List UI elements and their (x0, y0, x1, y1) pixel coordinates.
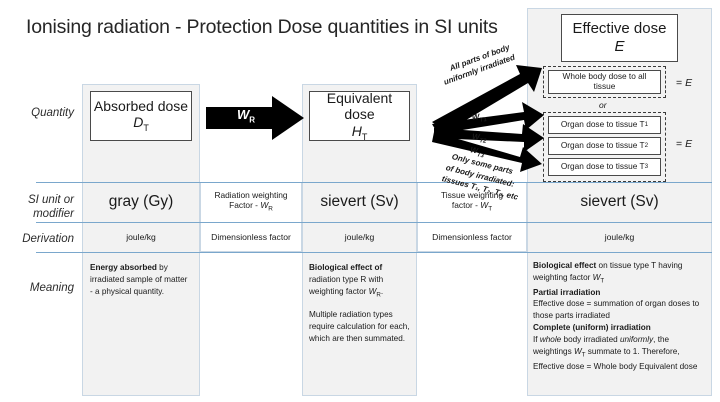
equals-e-upper: = E (676, 77, 692, 89)
derivation-col3: joule/kg (302, 222, 417, 252)
diagram-canvas: Ionising radiation - Protection Dose qua… (0, 0, 720, 402)
absorbed-dose-symbol: DT (133, 114, 149, 133)
absorbed-dose-box: Absorbed dose DT (90, 91, 192, 141)
derivation-col5: joule/kg (527, 222, 712, 252)
si-unit-col3: sievert (Sv) (302, 182, 417, 222)
effective-dose-symbol: E (614, 38, 624, 56)
row-label-derivation: Derivation (0, 232, 74, 246)
meaning-col3: Biological effect of radiation type R wi… (309, 262, 413, 345)
or-separator: or (599, 100, 607, 110)
derivation-col2: Dimensionless factor (200, 222, 302, 252)
effective-dose-name: Effective dose (573, 20, 667, 38)
page-title: Ionising radiation - Protection Dose qua… (26, 16, 498, 39)
equals-e-lower: = E (676, 138, 692, 150)
si-unit-col1: gray (Gy) (82, 182, 200, 222)
row-label-quantity: Quantity (0, 106, 74, 120)
si-unit-col5: sievert (Sv) (527, 182, 712, 222)
row-label-si-unit: SI unit or modifier (0, 193, 74, 222)
row-label-si-unit-line2: modifier (0, 207, 74, 221)
fan-label-wt1: WT1 (471, 112, 487, 125)
row-label-si-unit-line1: SI unit or (0, 193, 74, 207)
meaning-col5: Biological effect on tissue type T havin… (533, 260, 709, 372)
absorbed-dose-name: Absorbed dose (94, 98, 188, 114)
derivation-col1: joule/kg (82, 222, 200, 252)
whole-body-dose-box: Whole body dose to all tissue (548, 70, 661, 94)
equivalent-dose-box: Equivalent dose HT (309, 91, 410, 141)
meaning-col1: Energy absorbed by irradiated sample of … (90, 262, 192, 298)
organ-dose-box-2: Organ dose to tissue T2 (548, 137, 661, 155)
radiation-weighting-arrow-label: WR (237, 107, 255, 125)
si-unit-col4: Tissue weighting factor - WT (417, 182, 527, 222)
fan-label-wt2: WT2 (471, 132, 487, 145)
equivalent-dose-name: Equivalent dose (310, 90, 409, 122)
equivalent-dose-symbol: HT (352, 123, 368, 142)
effective-dose-box: Effective dose E (561, 14, 678, 62)
derivation-col4: Dimensionless factor (417, 222, 527, 252)
rule-above-meaning (36, 252, 712, 253)
organ-dose-box-3: Organ dose to tissue T3 (548, 158, 661, 176)
row-label-meaning: Meaning (0, 281, 74, 295)
si-unit-col2: Radiation weighting Factor - WR (200, 182, 302, 222)
organ-dose-box-1: Organ dose to tissue T1 (548, 116, 661, 134)
